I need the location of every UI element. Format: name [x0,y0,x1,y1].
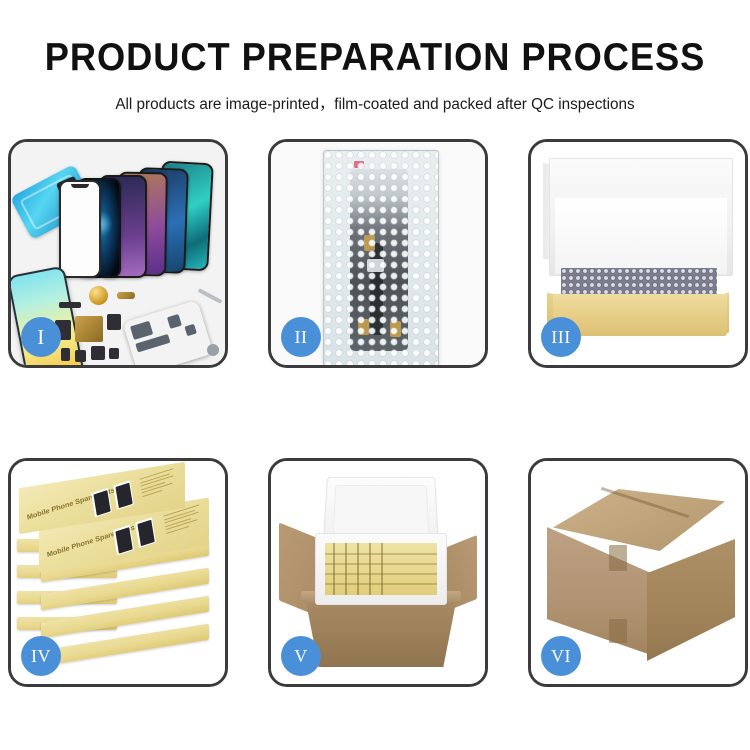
carton-tape-lower [609,619,627,643]
step-panel-4[interactable]: Mobile Phone Spare Parts Mobile Phone Sp… [8,458,228,687]
sim-tray-part [75,350,86,362]
step-3-image: III [531,142,745,365]
step-6-image: VI [531,461,745,684]
carton-body [305,597,457,667]
step-4-image: Mobile Phone Spare Parts Mobile Phone Sp… [11,461,225,684]
screw-set-part [207,344,219,356]
button-flex-part [117,292,135,299]
step-badge-4: IV [21,636,61,676]
step-panel-6[interactable]: VI [528,458,748,687]
box-screen-thumb-2b [135,517,156,547]
white-foam-sheet [555,198,727,274]
step-badge-2: II [281,317,321,357]
step-2-image: II [271,142,485,365]
product-preparation-infographic: PRODUCT PREPARATION PROCESS All products… [0,0,750,750]
page-subtitle: All products are image-printed，film-coat… [6,92,745,114]
step-badge-1: I [21,317,61,357]
step-1-image: I [11,142,225,365]
page-title: PRODUCT PREPARATION PROCESS [26,36,724,80]
step-badge-3: III [541,317,581,357]
step-panel-1[interactable]: I [8,139,228,368]
sealed-carton [547,489,735,659]
step-panel-3[interactable]: III [528,139,748,368]
camera-lens-part [89,286,108,305]
step-5-image: V [271,461,485,684]
logic-board-part [75,316,103,342]
bubble-texture [324,151,438,365]
speaker-part [59,302,81,308]
carton-tape-upper [609,545,627,571]
step-badge-6: VI [541,636,581,676]
header: PRODUCT PREPARATION PROCESS All products… [0,0,750,114]
taptic-engine-part [91,346,105,360]
step-badge-5: V [281,636,321,676]
step-panel-5[interactable]: V [268,458,488,687]
carton-right-face [647,539,735,661]
box-spec-lines-1 [140,468,177,499]
box-screen-thumb-1b [113,480,134,509]
box-screen-thumb-1a [91,488,112,517]
connector-part-a [107,314,121,330]
bubble-wrap-bag [323,150,439,365]
gold-boxes-inside [325,543,437,595]
vibrator-part [109,348,119,359]
step-panel-2[interactable]: II [268,139,488,368]
connector-part-b [61,348,70,361]
